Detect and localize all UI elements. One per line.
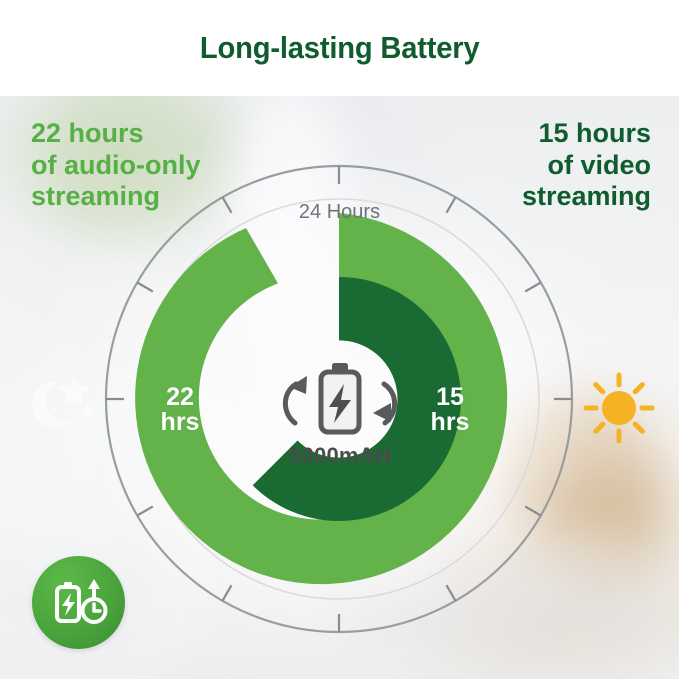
audio-arc-value-label: 22 hrs — [145, 385, 215, 435]
video-arc-value-label: 15 hrs — [415, 385, 485, 435]
fast-charge-badge — [32, 556, 125, 649]
battery-capacity-cluster: 5000mAH — [269, 356, 411, 476]
battery-capacity-label: 5000mAH — [269, 443, 411, 469]
infographic-canvas: Long-lasting Battery 22 hours of audio-o… — [0, 0, 679, 679]
audio-streaming-callout: 22 hours of audio-only streaming — [31, 118, 200, 213]
header-band: Long-lasting Battery — [0, 0, 679, 96]
video-streaming-callout: 15 hours of video streaming — [522, 118, 651, 213]
page-title: Long-lasting Battery — [200, 30, 480, 66]
refresh-arrow-up-icon — [285, 384, 296, 423]
moon-stars-icon — [26, 368, 106, 446]
sun-icon — [583, 372, 655, 444]
battery-clock-fast-charge-icon — [49, 573, 109, 633]
battery-bolt-icon — [321, 363, 359, 432]
refresh-arrow-down-head-icon — [373, 403, 391, 422]
